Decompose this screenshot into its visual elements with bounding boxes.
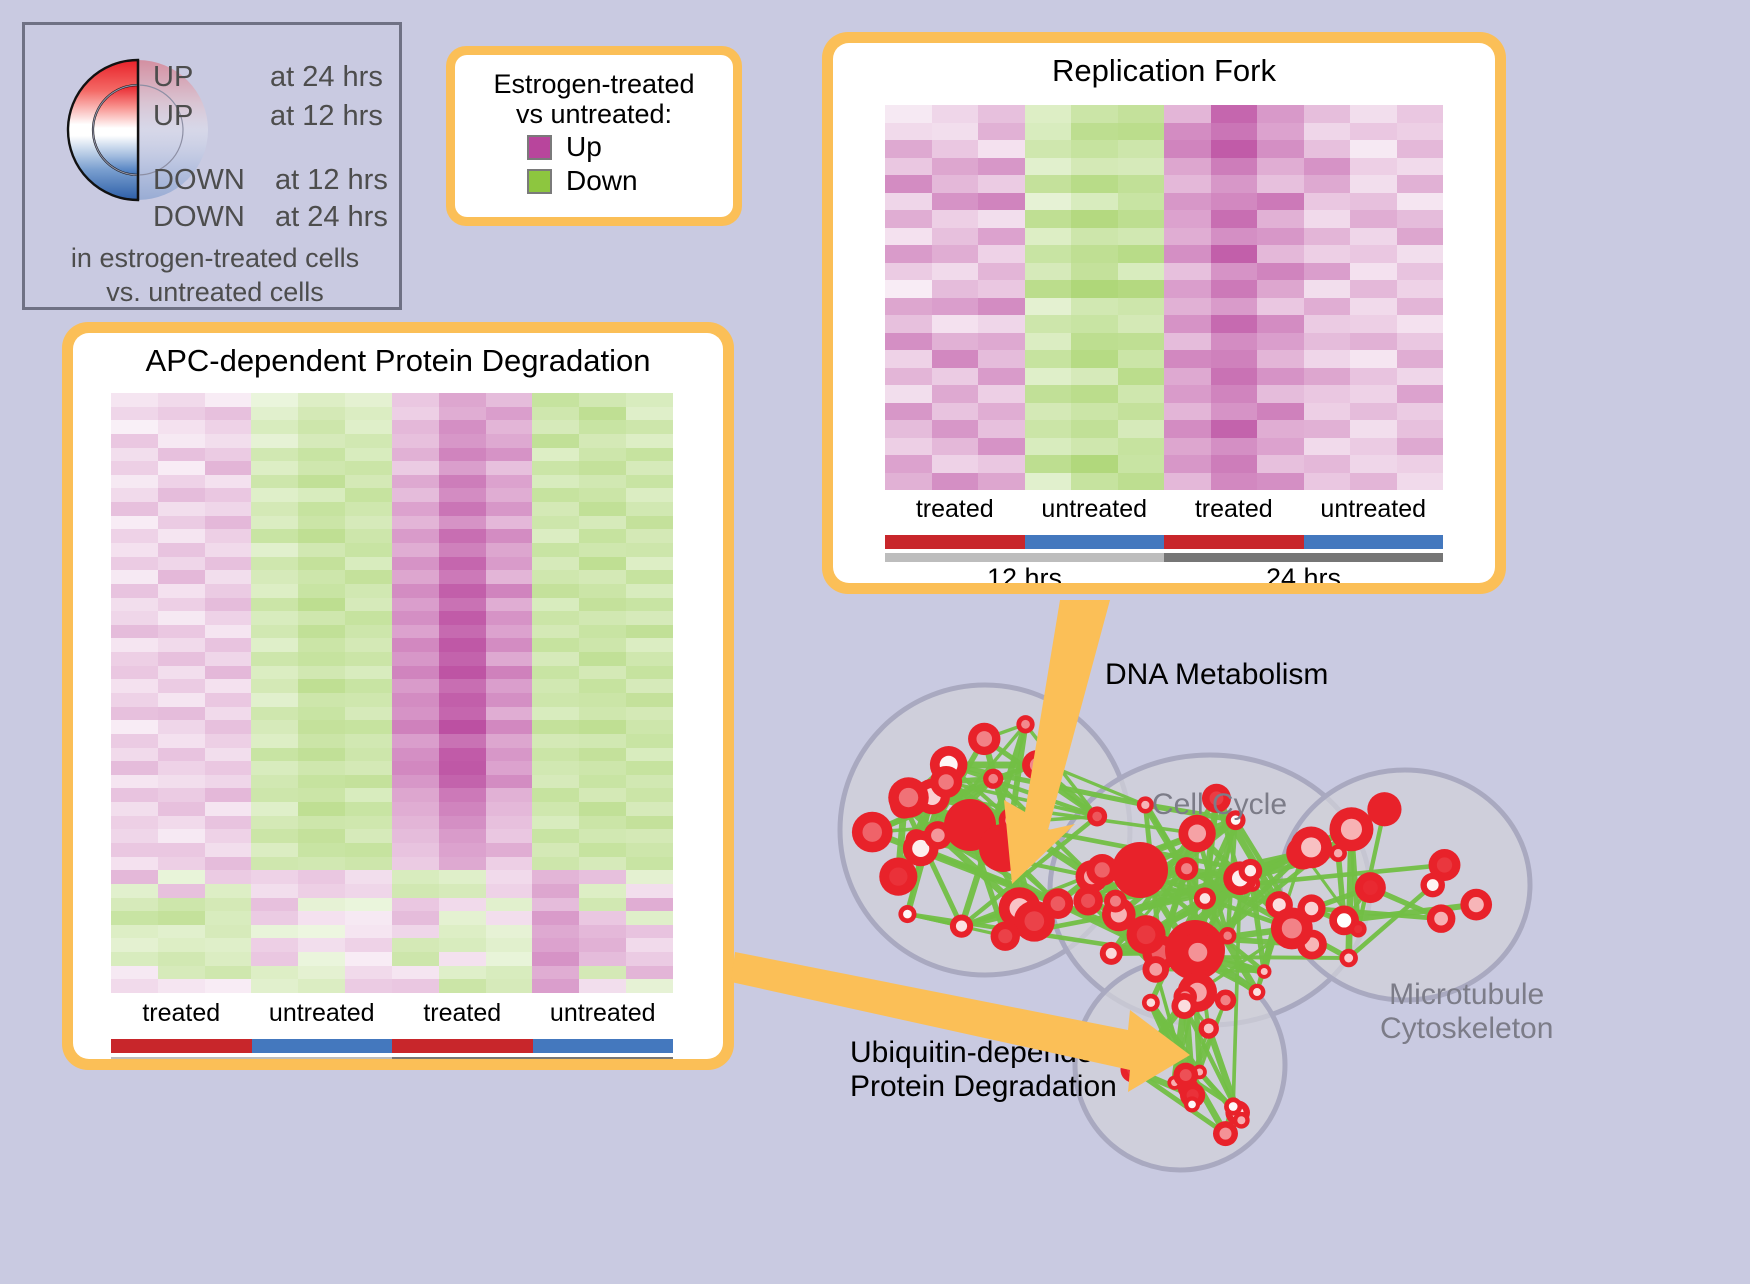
legend-row-1-time: at 12 hrs (270, 100, 383, 133)
panel-replication-fork: Replication Fork treated untreated treat… (822, 32, 1506, 594)
legend-row-0-time: at 24 hrs (270, 61, 383, 94)
bar-treated-24 (1164, 535, 1304, 549)
cluster-label-ubiquitin-degradation: Ubiquitin-dependent Protein Degradation (850, 1036, 1119, 1104)
cluster-label-microtubule-cytoskeleton: Microtubule Cytoskeleton (1380, 978, 1553, 1046)
group-label-3: untreated (1304, 495, 1444, 529)
bar-untreated-24 (1304, 535, 1444, 549)
pathway-network-diagram: DNA Metabolism Cell Cycle Microtubule Cy… (780, 600, 1750, 1279)
treatment-color-bar-apc (111, 1039, 673, 1053)
bar-untreated-12 (1025, 535, 1165, 549)
group-label-0: treated (885, 495, 1025, 529)
legend-caption-line2: vs. untreated cells (25, 277, 405, 308)
bar-time-24 (1164, 553, 1443, 562)
legend-caption-line1: in estrogen-treated cells (25, 243, 405, 274)
bar-treated-24 (392, 1039, 533, 1053)
legend-row-3-label: DOWN (153, 201, 245, 234)
network-node-29 (1112, 842, 1168, 898)
legend-row-2-label: DOWN (153, 164, 245, 197)
gradient-legend-box: UP at 24 hrs UP at 12 hrs DOWN at 12 hrs… (22, 22, 402, 310)
cluster-label-cell-cycle: Cell Cycle (1152, 788, 1287, 822)
group-labels-apc: treated untreated treated untreated (111, 999, 673, 1033)
legend-row-0-label: UP (153, 61, 193, 94)
heatmap-replication-fork (885, 105, 1443, 490)
cluster-label-dna-metabolism: DNA Metabolism (1105, 658, 1328, 692)
treatment-color-bar-replication-fork (885, 535, 1443, 549)
cluster-region-2 (1280, 770, 1530, 1000)
time-label-24hrs: 24 hrs (1164, 563, 1443, 583)
group-label-2: treated (392, 999, 533, 1033)
legend-row-1-label: UP (153, 100, 193, 133)
bar-time-24 (392, 1057, 673, 1059)
group-label-2: treated (1164, 495, 1304, 529)
legend-item-up-label: Up (566, 131, 602, 163)
network-node-62 (1367, 792, 1401, 826)
estrogen-legend-title-line2: vs untreated: (465, 99, 723, 129)
estrogen-legend-title-line1: Estrogen-treated (465, 69, 723, 99)
bar-untreated-12 (252, 1039, 393, 1053)
panel-apc-degradation: APC-dependent Protein Degradation treate… (62, 322, 734, 1070)
heatmap-apc-degradation (111, 393, 673, 993)
group-label-0: treated (111, 999, 252, 1033)
legend-item-down-label: Down (566, 165, 638, 197)
down-color-swatch (527, 169, 552, 194)
panel-title-apc: APC-dependent Protein Degradation (73, 333, 723, 379)
legend-row-3-time: at 24 hrs (275, 201, 388, 234)
time-color-bar-apc (111, 1057, 673, 1059)
time-label-12hrs: 12 hrs (885, 563, 1164, 583)
bar-treated-12 (111, 1039, 252, 1053)
legend-row-2-time: at 12 hrs (275, 164, 388, 197)
network-svg (780, 600, 1750, 1279)
group-labels-replication-fork: treated untreated treated untreated (885, 495, 1443, 529)
bar-treated-12 (885, 535, 1025, 549)
legend-item-down: Down (527, 165, 723, 197)
group-label-1: untreated (1025, 495, 1165, 529)
group-label-1: untreated (252, 999, 393, 1033)
legend-item-up: Up (527, 131, 723, 163)
panel-title-replication-fork: Replication Fork (833, 43, 1495, 89)
estrogen-legend-box: Estrogen-treated vs untreated: Up Down (446, 46, 742, 226)
time-color-bar-replication-fork (885, 553, 1443, 562)
bar-time-12 (111, 1057, 392, 1059)
bar-time-12 (885, 553, 1164, 562)
bar-untreated-24 (533, 1039, 674, 1053)
up-color-swatch (527, 135, 552, 160)
group-label-3: untreated (533, 999, 674, 1033)
network-node-5 (979, 824, 1027, 872)
time-labels-replication-fork: 12 hrs 24 hrs (885, 563, 1443, 583)
